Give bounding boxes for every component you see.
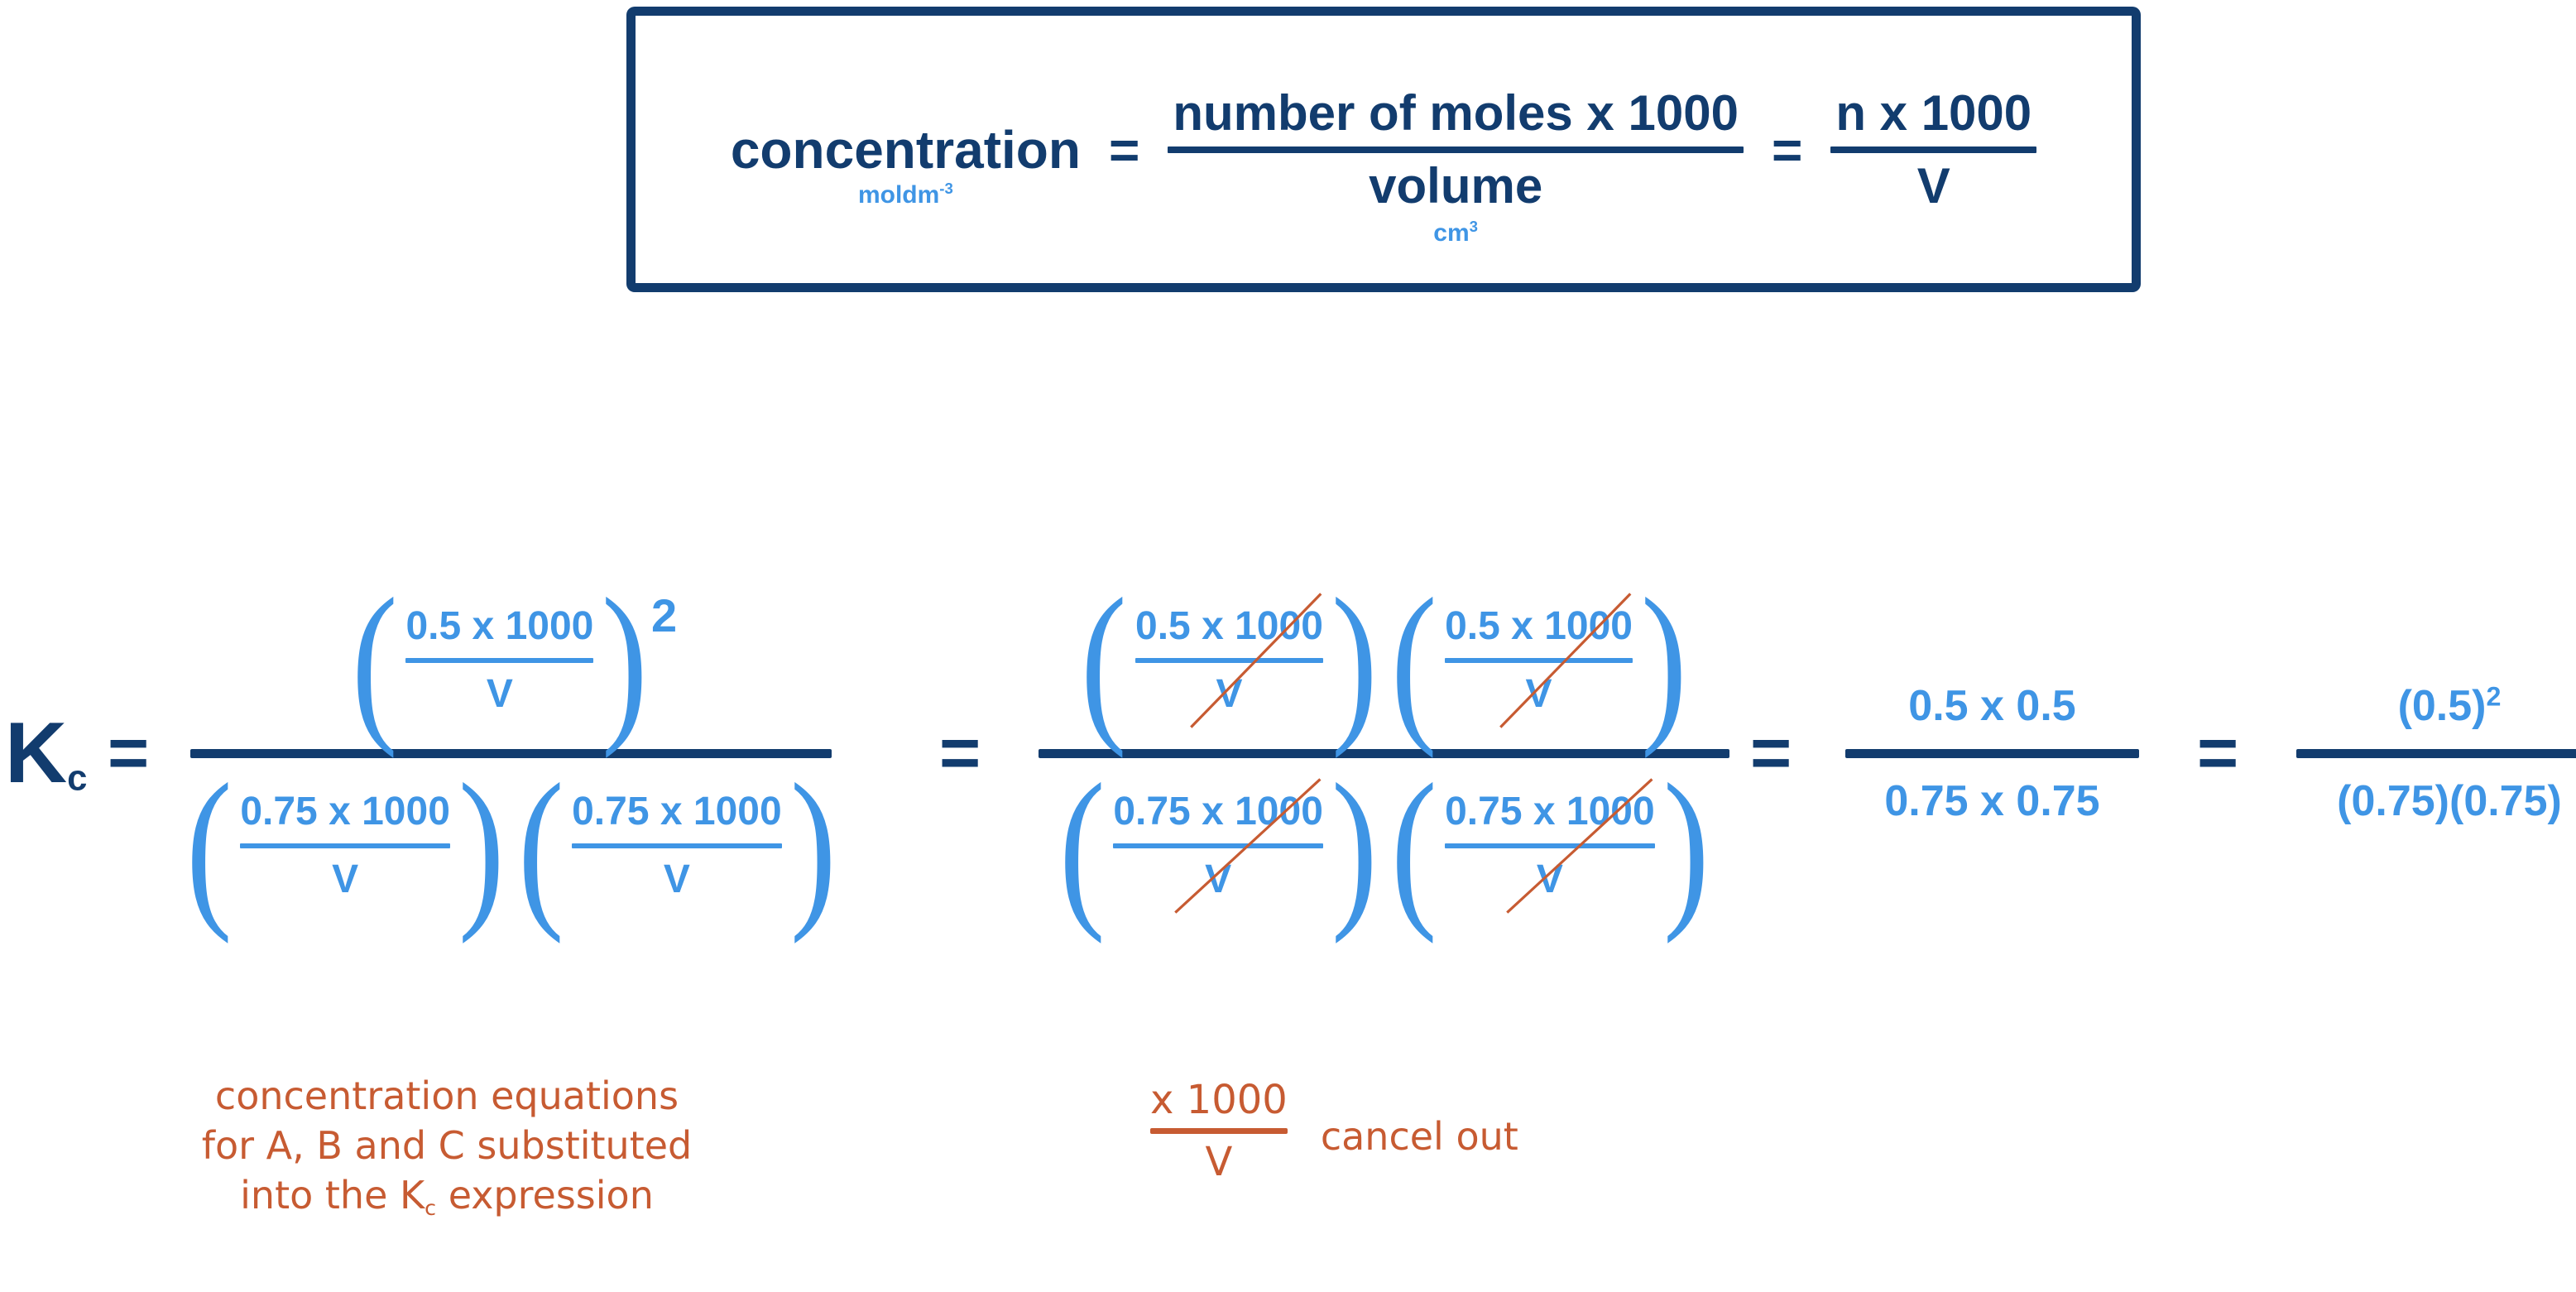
main-equals-3: = bbox=[1750, 463, 1792, 1043]
open-paren-icon: ( bbox=[517, 773, 564, 919]
inner-fraction-bar bbox=[240, 843, 450, 848]
open-paren-icon: ( bbox=[186, 773, 233, 919]
open-paren-icon: ( bbox=[352, 588, 398, 733]
inner-numerator: 0.5 x 1000 bbox=[405, 607, 593, 646]
expression-4: (0.5)2 (0.75)(0.75) bbox=[2296, 463, 2576, 1043]
n-numerator: n x 1000 bbox=[1830, 89, 2036, 138]
expression-2-numerator: ( 0.5 x 1000 V ) ( 0.5 x 1000 bbox=[1039, 588, 1729, 748]
volume-unit-superscript: 3 bbox=[1470, 218, 1478, 235]
moles-numerator: number of moles x 1000 bbox=[1168, 89, 1744, 138]
inner-denominator: V bbox=[1216, 675, 1242, 714]
expression-3-denominator: 0.75 x 0.75 bbox=[1878, 776, 2106, 826]
annotation-cancel-note: x 1000 V cancel out bbox=[1150, 1080, 1518, 1182]
expression-4-numerator-base: (0.5) bbox=[2398, 682, 2487, 730]
volume-unit-text: cm bbox=[1433, 219, 1469, 247]
inner-numerator: 0.5 x 1000 bbox=[1135, 607, 1323, 646]
close-paren-icon: ) bbox=[1641, 588, 1687, 733]
denominator-term-2: ( 0.75 x 1000 V ) bbox=[1384, 773, 1716, 919]
expression-1-numerator: ( 0.5 x 1000 V ) 2 bbox=[190, 588, 832, 748]
open-paren-icon: ( bbox=[1390, 588, 1437, 733]
inner-fraction: 0.5 x 1000 V bbox=[1443, 607, 1634, 714]
concentration-unit-superscript: -3 bbox=[939, 180, 953, 197]
kc-subscript: c bbox=[67, 757, 87, 798]
expression-4-numerator: (0.5)2 bbox=[2391, 681, 2508, 731]
denominator-term-1: ( 0.75 x 1000 V ) bbox=[180, 773, 511, 919]
expression-2-denominator: ( 0.75 x 1000 V ) ( 0.75 x 1000 bbox=[1039, 758, 1729, 919]
numerator-term-2: ( 0.5 x 1000 V ) bbox=[1384, 588, 1694, 733]
main-equals-4: = bbox=[2197, 463, 2238, 1043]
annotation-substitution-note: concentration equations for A, B and C s… bbox=[108, 1072, 786, 1222]
fraction-bar bbox=[1830, 146, 2036, 153]
inner-fraction-bar bbox=[1113, 843, 1323, 848]
inner-fraction: 0.5 x 1000 V bbox=[404, 607, 595, 714]
close-paren-icon: ) bbox=[790, 773, 837, 919]
expression-1: ( 0.5 x 1000 V ) 2 ( 0.75 x 1000 V ) bbox=[190, 463, 832, 1043]
inner-fraction-bar bbox=[1445, 658, 1633, 663]
exponent-2: 2 bbox=[651, 593, 677, 639]
annotation-line-2: for A, B and C substituted bbox=[108, 1121, 786, 1171]
kc-symbol: Kc bbox=[5, 463, 104, 1043]
annotation-cancel-fraction: x 1000 V bbox=[1150, 1080, 1288, 1182]
main-fraction-bar bbox=[1039, 749, 1729, 758]
inner-denominator: V bbox=[487, 675, 513, 714]
annotation-line-3: into the Kc expression bbox=[108, 1171, 786, 1222]
expression-4-exponent: 2 bbox=[2486, 681, 2501, 711]
annotation-cancel-denominator: V bbox=[1205, 1142, 1232, 1182]
formula-equals-2: = bbox=[1772, 123, 1802, 176]
formula-equals-1: = bbox=[1109, 123, 1139, 176]
inner-fraction: 0.75 x 1000 V bbox=[1111, 792, 1325, 900]
inner-fraction: 0.5 x 1000 V bbox=[1134, 607, 1325, 714]
inner-numerator: 0.75 x 1000 bbox=[240, 792, 450, 832]
inner-numerator: 0.5 x 1000 bbox=[1445, 607, 1633, 646]
expression-2: ( 0.5 x 1000 V ) ( 0.5 x 1000 bbox=[1039, 463, 1729, 1043]
concentration-unit: moldm-3 bbox=[858, 181, 953, 208]
expression-1-denominator: ( 0.75 x 1000 V ) ( 0.75 x 1000 V ) bbox=[190, 758, 832, 919]
concentration-label: concentration moldm-3 bbox=[731, 123, 1081, 176]
inner-fraction: 0.75 x 1000 V bbox=[238, 792, 452, 900]
open-paren-icon: ( bbox=[1081, 588, 1127, 733]
expression-4-denominator: (0.75)(0.75) bbox=[2330, 776, 2569, 826]
close-paren-icon: ) bbox=[602, 588, 648, 733]
denominator-term-2: ( 0.75 x 1000 V ) bbox=[511, 773, 843, 919]
open-paren-icon: ( bbox=[1390, 773, 1437, 919]
inner-denominator: V bbox=[1537, 860, 1563, 900]
inner-denominator: V bbox=[332, 860, 358, 900]
volume-unit: cm3 bbox=[1433, 219, 1478, 246]
open-paren-icon: ( bbox=[1059, 773, 1106, 919]
main-equals-2: = bbox=[939, 463, 981, 1043]
main-fraction-bar bbox=[2296, 749, 2576, 758]
inner-numerator: 0.75 x 1000 bbox=[1445, 792, 1655, 832]
inner-denominator: V bbox=[664, 860, 690, 900]
inner-fraction-bar bbox=[572, 843, 782, 848]
concentration-formula-row: concentration moldm-3 = number of moles … bbox=[636, 16, 2132, 283]
inner-numerator: 0.75 x 1000 bbox=[1113, 792, 1323, 832]
annotation-line-3-post: expression bbox=[436, 1173, 654, 1218]
inner-fraction-bar bbox=[405, 658, 593, 663]
close-paren-icon: ) bbox=[1663, 773, 1710, 919]
inner-fraction-bar bbox=[1445, 843, 1655, 848]
kc-equation-row: Kc = ( 0.5 x 1000 V ) 2 ( 0.75 x 1000 bbox=[0, 463, 2576, 1043]
annotation-fraction-bar bbox=[1150, 1128, 1288, 1134]
expression-3-numerator: 0.5 x 0.5 bbox=[1902, 681, 2082, 731]
close-paren-icon: ) bbox=[1331, 773, 1378, 919]
concentration-formula-box: concentration moldm-3 = number of moles … bbox=[626, 7, 2141, 292]
main-equals-1: = bbox=[108, 463, 149, 1043]
annotation-line-3-pre: into the K bbox=[240, 1173, 425, 1218]
n-over-v-fraction: n x 1000 V bbox=[1830, 89, 2036, 211]
close-paren-icon: ) bbox=[1331, 588, 1378, 733]
inner-denominator: V bbox=[1205, 860, 1231, 900]
inner-fraction: 0.75 x 1000 V bbox=[570, 792, 784, 900]
inner-numerator: 0.75 x 1000 bbox=[572, 792, 782, 832]
main-fraction-bar bbox=[1845, 749, 2139, 758]
annotation-cancel-numerator: x 1000 bbox=[1150, 1080, 1288, 1120]
inner-fraction-bar bbox=[1135, 658, 1323, 663]
kc-symbol-text: Kc bbox=[5, 710, 87, 796]
expression-3: 0.5 x 0.5 0.75 x 0.75 bbox=[1845, 463, 2139, 1043]
inner-fraction: 0.75 x 1000 V bbox=[1443, 792, 1657, 900]
concentration-unit-text: moldm bbox=[858, 181, 939, 209]
denominator-term-1: ( 0.75 x 1000 V ) bbox=[1053, 773, 1384, 919]
annotation-cancel-text: cancel out bbox=[1321, 1104, 1518, 1159]
moles-over-volume-fraction: number of moles x 1000 volume cm3 bbox=[1168, 89, 1744, 211]
volume-denominator: volume cm3 bbox=[1364, 161, 1547, 211]
v-denominator: V bbox=[1912, 161, 1955, 211]
inner-denominator: V bbox=[1526, 675, 1552, 714]
volume-denominator-text: volume bbox=[1369, 158, 1542, 214]
annotation-line-1: concentration equations bbox=[108, 1072, 786, 1121]
main-fraction-bar bbox=[190, 749, 832, 758]
annotation-line-3-subscript: c bbox=[425, 1196, 436, 1220]
kc-letter: K bbox=[5, 705, 67, 801]
squared-term: ( 0.5 x 1000 V ) 2 bbox=[345, 588, 677, 733]
concentration-label-text: concentration bbox=[731, 120, 1081, 180]
fraction-bar bbox=[1168, 146, 1744, 153]
numerator-term-1: ( 0.5 x 1000 V ) bbox=[1074, 588, 1384, 733]
close-paren-icon: ) bbox=[458, 773, 505, 919]
